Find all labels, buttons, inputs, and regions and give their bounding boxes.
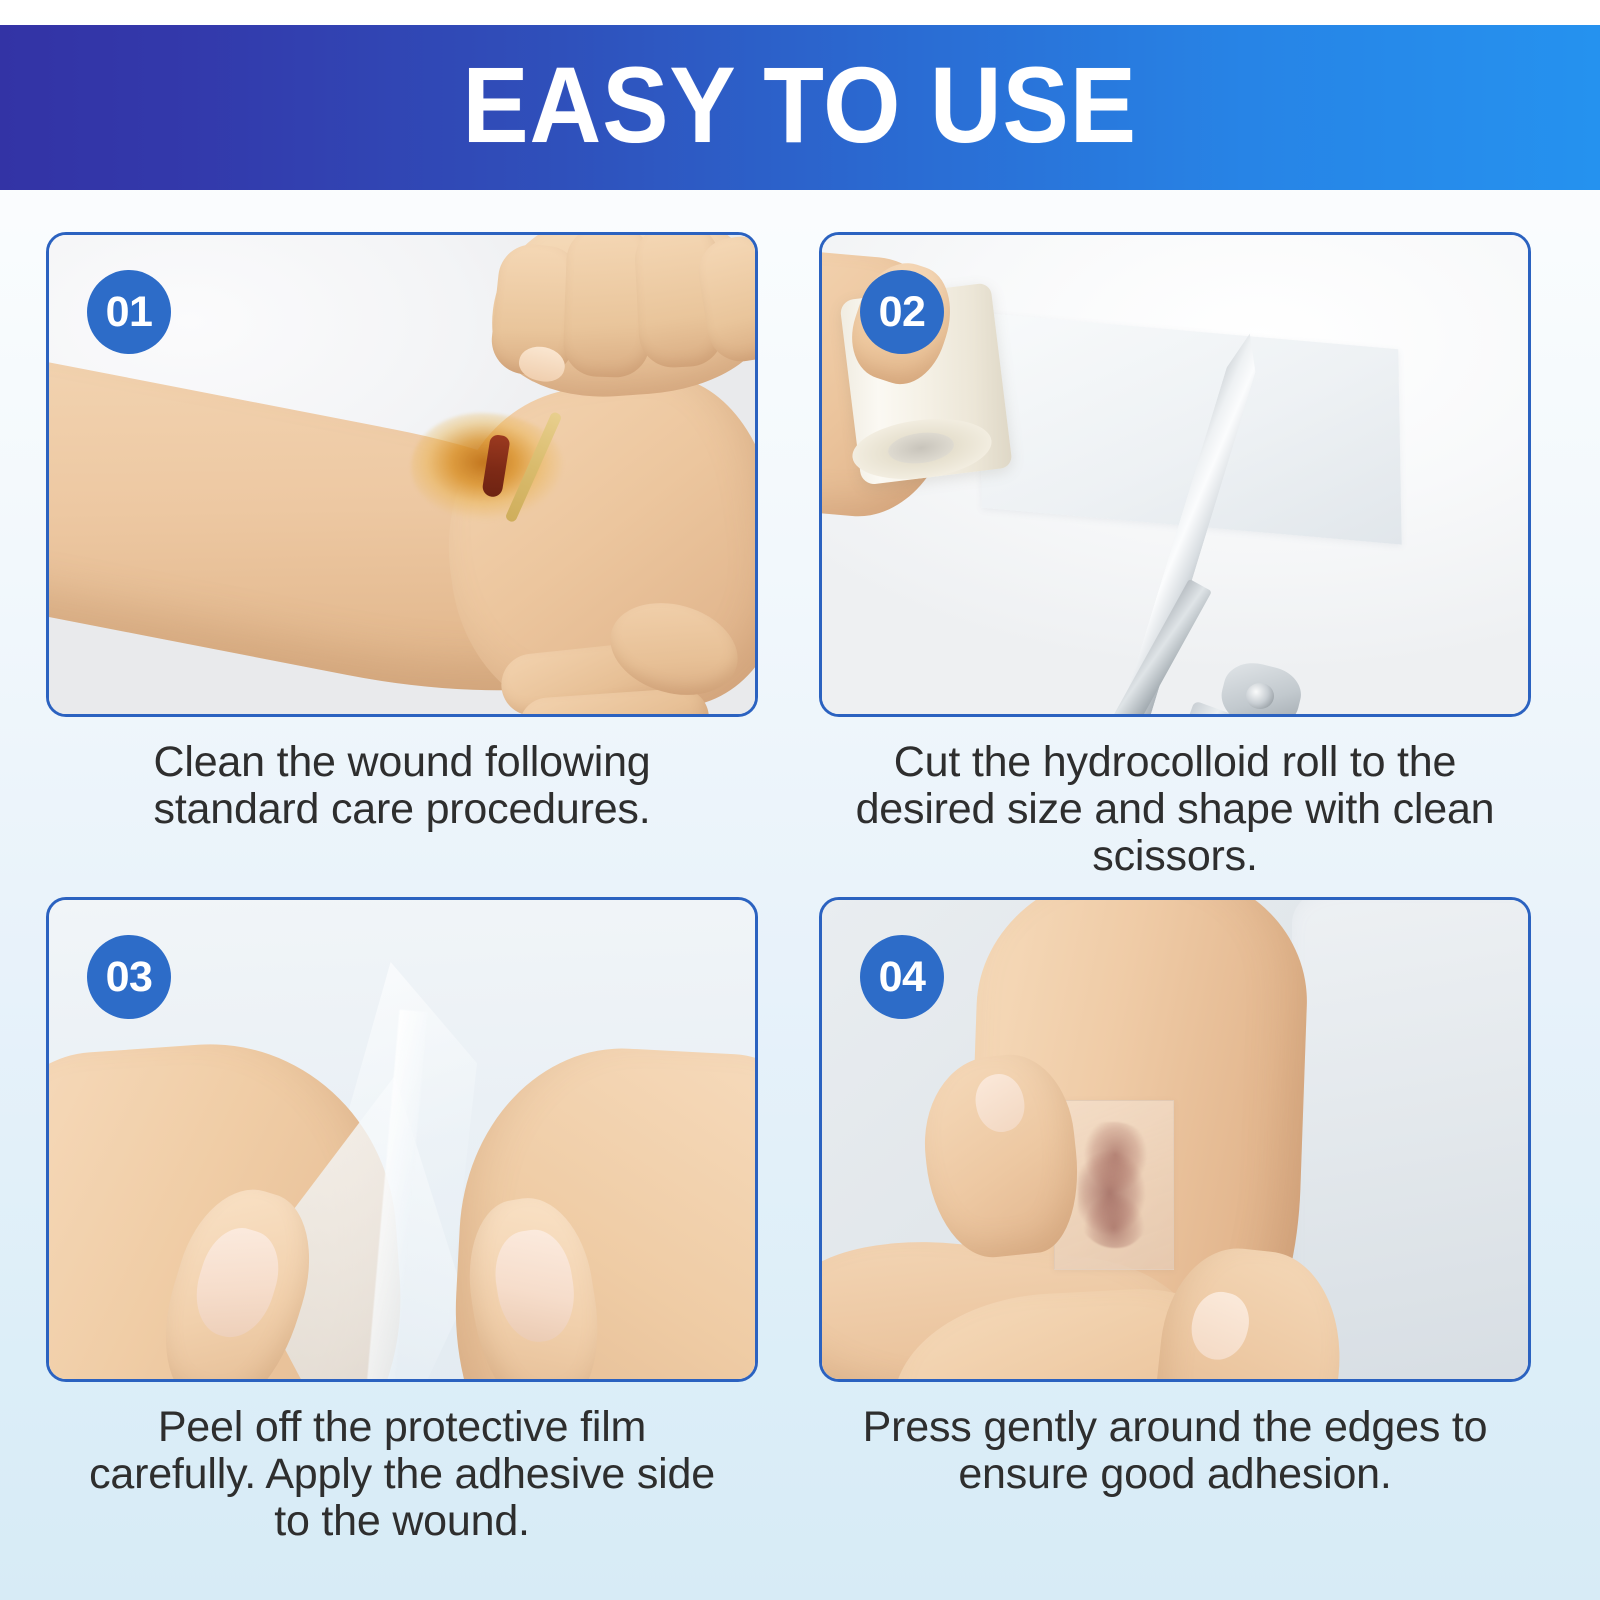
step-caption-text-02: Cut the hydrocolloid roll to the desired… — [845, 739, 1505, 880]
step-card-03: 03 — [46, 897, 758, 1382]
step-caption-04: Press gently around the edges to ensure … — [819, 1382, 1531, 1567]
step-badge-01: 01 — [87, 270, 171, 354]
header-banner: EASY TO USE — [0, 25, 1600, 190]
step-card-04: 04 — [819, 897, 1531, 1382]
step-caption-text-04: Press gently around the edges to ensure … — [845, 1404, 1505, 1498]
wound-area — [1078, 1122, 1150, 1248]
step-card-02: 02 — [819, 232, 1531, 717]
step-caption-text-03: Peel off the protective film carefully. … — [72, 1404, 732, 1545]
page-title: EASY TO USE — [463, 51, 1138, 165]
step-caption-03: Peel off the protective film carefully. … — [46, 1382, 758, 1567]
step-caption-02: Cut the hydrocolloid roll to the desired… — [819, 717, 1531, 897]
step-caption-01: Clean the wound following standard care … — [46, 717, 758, 897]
step-badge-03: 03 — [87, 935, 171, 1019]
step-card-01: 01 — [46, 232, 758, 717]
steps-grid: 01 02 Clean the wound following standard… — [46, 232, 1554, 1572]
step-badge-04: 04 — [860, 935, 944, 1019]
step-badge-02: 02 — [860, 270, 944, 354]
scissors-screw — [1246, 683, 1274, 709]
step-caption-text-01: Clean the wound following standard care … — [72, 739, 732, 833]
